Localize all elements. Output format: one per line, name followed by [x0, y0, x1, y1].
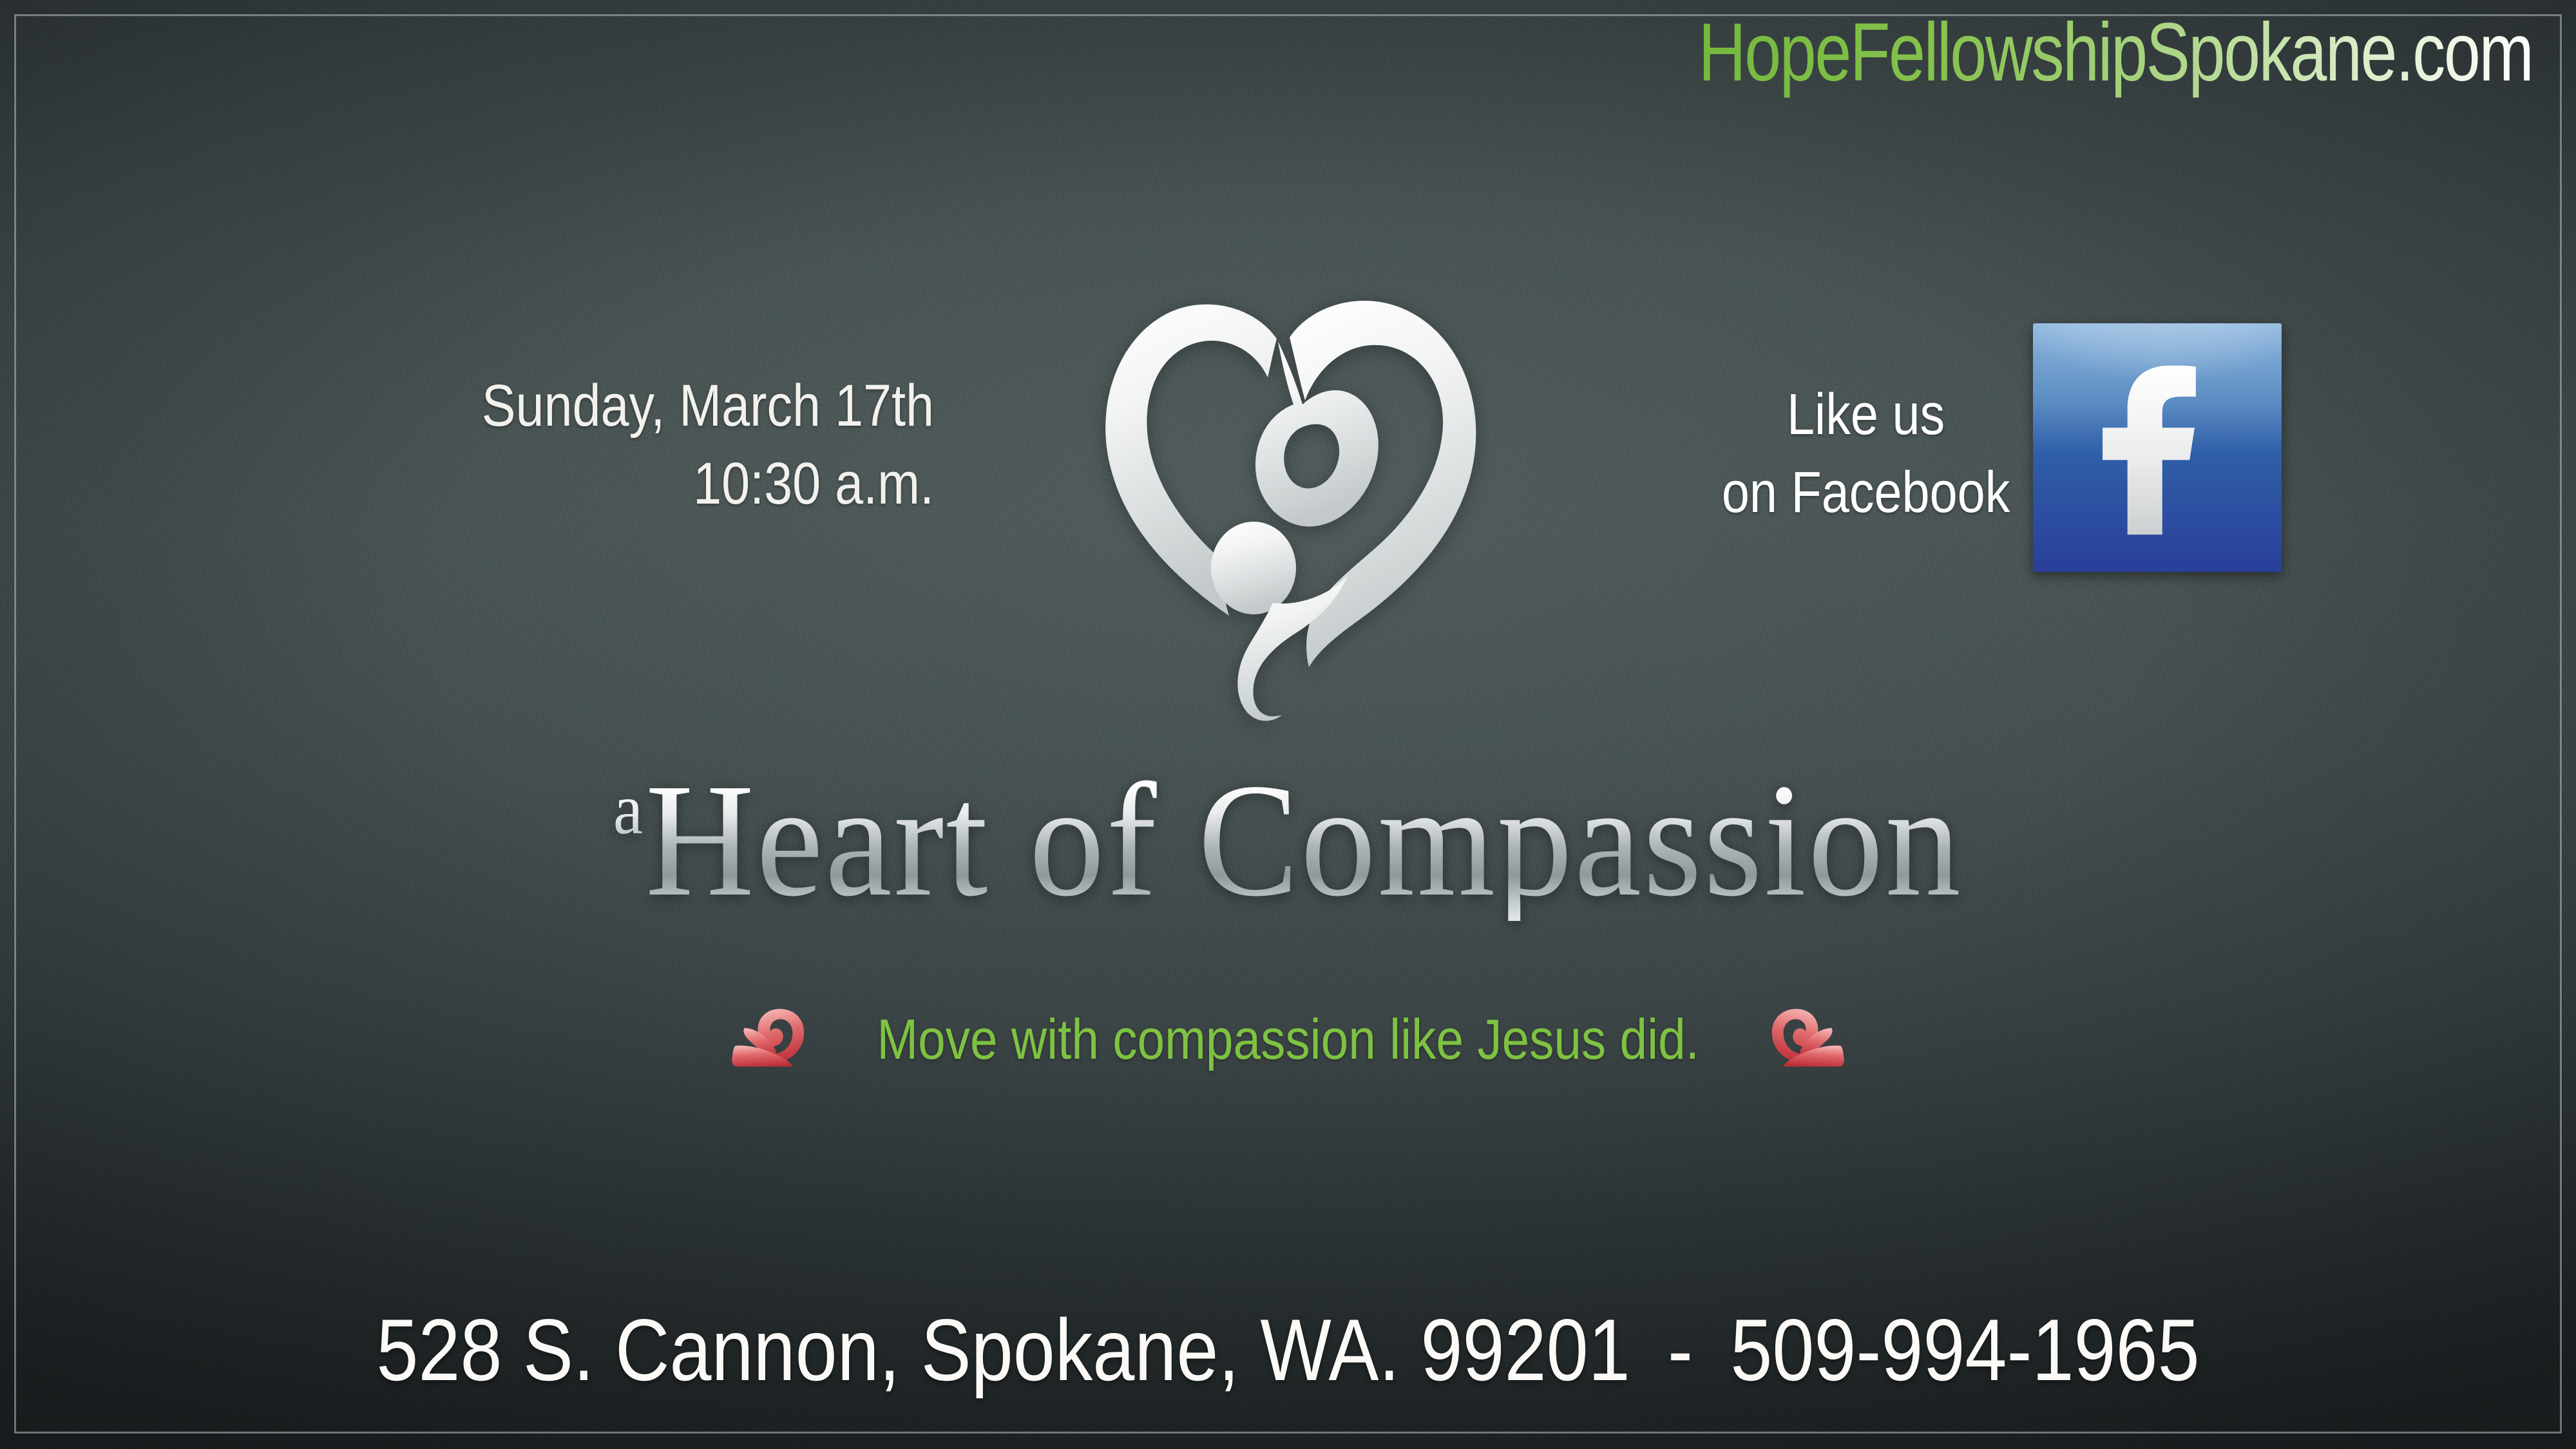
- heart-compassion-logo-icon: [1060, 263, 1524, 726]
- flourish-ornament-left-icon: [730, 1006, 806, 1073]
- facebook-icon[interactable]: [2033, 323, 2282, 572]
- facebook-line-2: on Facebook: [1721, 454, 2010, 532]
- service-time-block: Sunday, March 17th 10:30 a.m.: [363, 367, 934, 524]
- contact-separator: -: [1651, 1301, 1710, 1399]
- website-url[interactable]: HopeFellowshipSpokane.com: [1698, 5, 2532, 100]
- flourish-ornament-right-icon: [1770, 1006, 1846, 1073]
- tagline-text: Move with compassion like Jesus did.: [877, 1007, 1699, 1072]
- title-article: a: [613, 770, 645, 849]
- slide-canvas: HopeFellowshipSpokane.com Sunday, March …: [0, 0, 2576, 1449]
- title-headline: Heart of Compassion: [645, 750, 1963, 930]
- contact-phone[interactable]: 509-994-1965: [1730, 1301, 2199, 1399]
- facebook-text: Like us on Facebook: [1721, 376, 2010, 531]
- main-title-text: aHeart of Compassion: [613, 759, 1963, 921]
- service-time: 10:30 a.m.: [363, 445, 934, 523]
- main-title: aHeart of Compassion: [0, 759, 2576, 921]
- facebook-line-1: Like us: [1721, 376, 2010, 454]
- service-date: Sunday, March 17th: [363, 367, 934, 445]
- contact-address: 528 S. Cannon, Spokane, WA. 99201: [376, 1301, 1630, 1399]
- contact-bar: 528 S. Cannon, Spokane, WA. 99201 - 509-…: [180, 1300, 2396, 1400]
- tagline-row: Move with compassion like Jesus did.: [0, 1006, 2576, 1073]
- facebook-callout[interactable]: Like us on Facebook: [1598, 367, 2287, 625]
